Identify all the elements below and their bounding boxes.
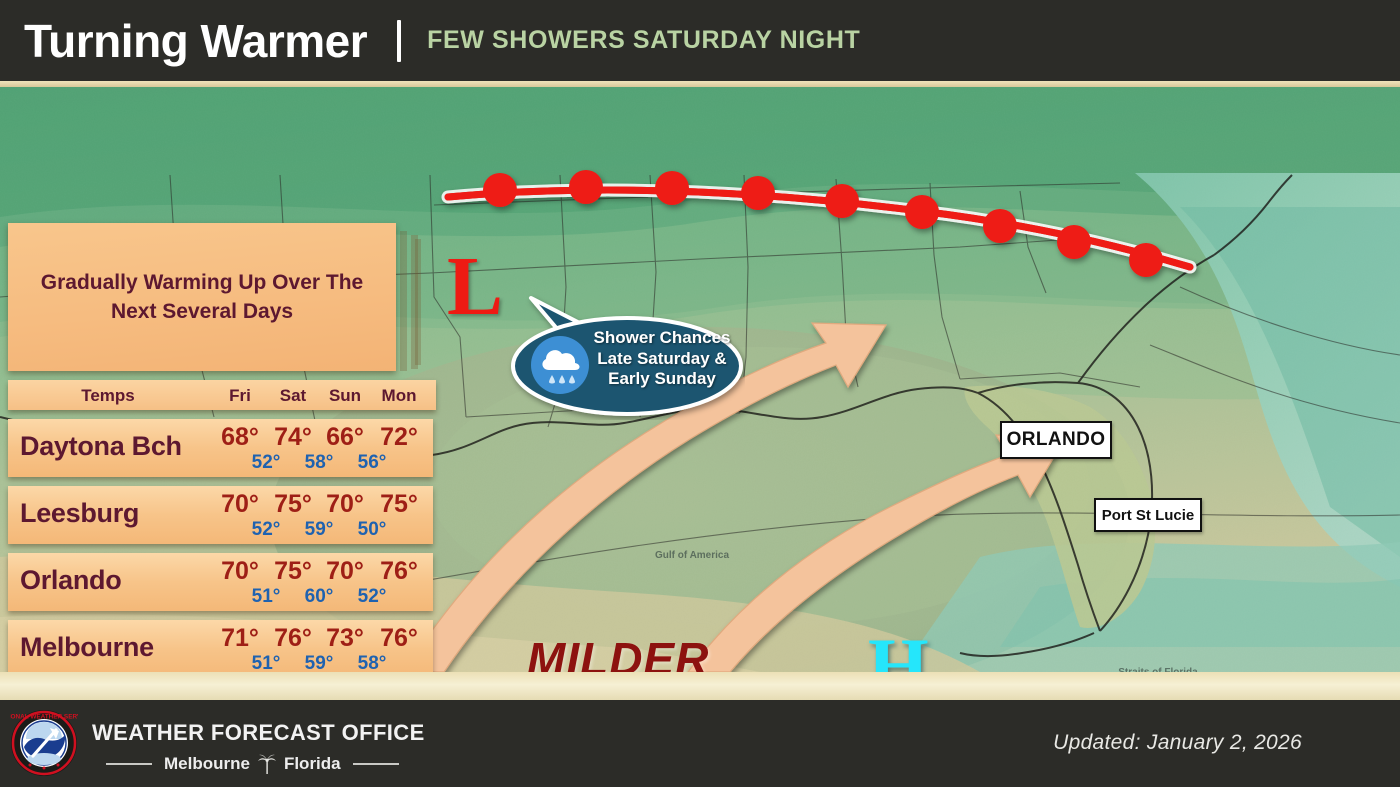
weather-map: Gulf of America Straits of Florida L H M… — [0, 87, 1400, 672]
row-high-fri: 70° — [211, 490, 269, 519]
row-high-sun: 66° — [316, 423, 374, 452]
national-weather-service-logo: NATIONAL WEATHER SERVICE — [10, 709, 78, 777]
row-high-mon: 76° — [370, 557, 428, 586]
row-high-fri: 70° — [211, 557, 269, 586]
column-header-mon: Mon — [373, 386, 425, 406]
row-high-mon: 76° — [370, 624, 428, 653]
row-city: Melbourne — [20, 632, 154, 663]
shower-chances-callout: Shower Chances Late Saturday & Early Sun… — [505, 290, 745, 420]
map-label-port-st-lucie: Port St Lucie — [1094, 498, 1202, 532]
panel-page-edge-3 — [415, 239, 421, 365]
forecast-office-location: Melbourne Florida — [106, 753, 425, 775]
row-high-mon: 75° — [370, 490, 428, 519]
row-low-3: 58° — [345, 653, 399, 672]
headline-subtitle: FEW SHOWERS SATURDAY NIGHT — [427, 26, 860, 55]
row-low-2: 59° — [292, 519, 346, 541]
row-low-2: 60° — [292, 586, 346, 608]
row-high-sat: 75° — [264, 490, 322, 519]
footer-top-edge — [0, 672, 1400, 700]
rule-left — [106, 763, 152, 765]
page-title: Turning Warmer — [24, 18, 367, 64]
table-row: Orlando 70° 75° 70° 76° 51° 60° 52° — [8, 553, 433, 611]
rain-cloud-icon — [529, 334, 591, 396]
row-low-1: 52° — [239, 519, 293, 541]
map-label-orlando: ORLANDO — [1000, 421, 1112, 459]
row-high-sun: 70° — [316, 557, 374, 586]
row-low-1: 52° — [239, 452, 293, 474]
column-header-temps: Temps — [48, 386, 168, 406]
row-city: Leesburg — [20, 498, 139, 529]
headline-banner: Turning Warmer FEW SHOWERS SATURDAY NIGH… — [0, 0, 1400, 81]
office-city: Melbourne — [164, 754, 250, 774]
column-header-sat: Sat — [267, 386, 319, 406]
row-high-mon: 72° — [370, 423, 428, 452]
row-high-sat: 76° — [264, 624, 322, 653]
title-divider — [397, 20, 401, 62]
office-state: Florida — [284, 754, 341, 774]
row-low-1: 51° — [239, 586, 293, 608]
row-low-3: 52° — [345, 586, 399, 608]
table-row: Melbourne 71° 76° 73° 76° 51° 59° 58° — [8, 620, 433, 672]
row-low-3: 50° — [345, 519, 399, 541]
row-low-2: 58° — [292, 452, 346, 474]
row-high-sun: 73° — [316, 624, 374, 653]
table-row: Leesburg 70° 75° 70° 75° 52° 59° 50° — [8, 486, 433, 544]
updated-timestamp: Updated: January 2, 2026 — [1053, 731, 1302, 755]
palm-tree-icon — [257, 753, 277, 775]
row-low-2: 59° — [292, 653, 346, 672]
column-header-fri: Fri — [214, 386, 266, 406]
temps-table-header: Temps Fri Sat Sun Mon — [8, 380, 436, 410]
row-city: Daytona Bch — [20, 431, 182, 462]
table-row: Daytona Bch 68° 74° 66° 72° 52° 58° 56° — [8, 419, 433, 477]
high-pressure-symbol: H — [868, 627, 929, 672]
row-low-3: 56° — [345, 452, 399, 474]
row-high-sat: 75° — [264, 557, 322, 586]
column-header-sun: Sun — [319, 386, 371, 406]
row-city: Orlando — [20, 565, 121, 596]
gulf-of-america-label: Gulf of America — [652, 550, 732, 562]
forecast-office-title: WEATHER FORECAST OFFICE — [92, 720, 425, 746]
panel-page-edge-1 — [400, 231, 407, 371]
forecast-office-block: WEATHER FORECAST OFFICE Melbourne Florid… — [92, 720, 425, 775]
row-high-sat: 74° — [264, 423, 322, 452]
row-high-fri: 68° — [211, 423, 269, 452]
callout-text: Shower Chances Late Saturday & Early Sun… — [587, 328, 737, 390]
forecast-panel: Gradually Warming Up Over The Next Sever… — [8, 223, 423, 672]
svg-text:NATIONAL WEATHER SERVICE: NATIONAL WEATHER SERVICE — [10, 714, 78, 721]
rule-right — [353, 763, 399, 765]
weather-graphic: Turning Warmer FEW SHOWERS SATURDAY NIGH… — [0, 0, 1400, 787]
footer-bar: NATIONAL WEATHER SERVICE WEATHER FORECAS… — [0, 700, 1400, 787]
milder-label: MILDER — [527, 632, 709, 672]
row-high-sun: 70° — [316, 490, 374, 519]
headline-message: Gradually Warming Up Over The Next Sever… — [8, 269, 396, 326]
headline-card: Gradually Warming Up Over The Next Sever… — [8, 223, 396, 371]
row-low-1: 51° — [239, 653, 293, 672]
low-pressure-symbol: L — [447, 245, 503, 329]
row-high-fri: 71° — [211, 624, 269, 653]
